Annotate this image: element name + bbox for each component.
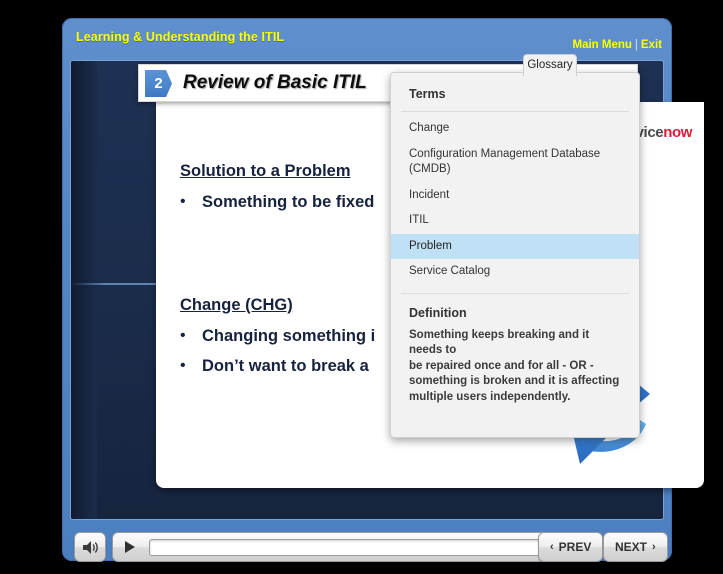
play-icon (124, 540, 136, 554)
prev-button-label: PREV (559, 540, 592, 554)
bullet-item: • Don’t want to break a (180, 357, 375, 375)
tab-glossary[interactable]: Glossary (523, 54, 577, 76)
content-block-2: Change (CHG) • Changing something i • Do… (180, 296, 375, 375)
glossary-term-change[interactable]: Change (391, 116, 639, 142)
nav-separator: | (635, 39, 638, 51)
seek-slider[interactable] (149, 539, 547, 556)
glossary-panel: Terms Change Configuration Management Da… (390, 72, 640, 438)
bullet-text: Don’t want to break a (202, 357, 369, 375)
block-heading: Change (CHG) (180, 296, 375, 315)
exit-link[interactable]: Exit (641, 39, 662, 51)
glossary-term-service-catalog[interactable]: Service Catalog (391, 259, 639, 285)
stage-left-shading (71, 61, 97, 519)
glossary-definition-text: Something keeps breaking and it needs to… (391, 328, 639, 406)
main-menu-link[interactable]: Main Menu (572, 39, 631, 51)
prev-button[interactable]: ‹ PREV (538, 532, 603, 562)
bullet-text: Changing something i (202, 327, 375, 345)
bullet-item: • Something to be fixed (180, 193, 374, 211)
course-player-frame: Learning & Understanding the ITIL Main M… (62, 18, 672, 561)
glossary-definition-title: Definition (391, 294, 639, 328)
volume-button[interactable] (74, 532, 106, 562)
logo-text-now: now (663, 124, 692, 141)
glossary-term-cmdb[interactable]: Configuration Management Database (CMDB) (391, 142, 639, 183)
bullet-item: • Changing something i (180, 327, 375, 345)
bullet-dot-icon: • (180, 357, 202, 375)
glossary-term-problem[interactable]: Problem (391, 234, 639, 260)
top-nav: Main Menu|Exit (572, 39, 662, 51)
bullet-text: Something to be fixed (202, 193, 374, 211)
chevron-right-icon: › (652, 541, 656, 553)
title-bar: Learning & Understanding the ITIL Main M… (62, 18, 672, 60)
player-root: Learning & Understanding the ITIL Main M… (0, 0, 723, 574)
course-title: Learning & Understanding the ITIL (76, 30, 284, 44)
slide-title: Review of Basic ITIL (183, 72, 367, 94)
seek-bar-container (112, 532, 582, 562)
glossary-terms-list: Change Configuration Management Database… (391, 112, 639, 285)
bullet-dot-icon: • (180, 193, 202, 211)
speaker-icon (82, 540, 99, 555)
next-button-label: NEXT (615, 540, 647, 554)
glossary-term-itil[interactable]: ITIL (391, 208, 639, 234)
next-button[interactable]: NEXT › (603, 532, 668, 562)
slide-number-badge: 2 (145, 70, 172, 97)
content-block-1: Solution to a Problem • Something to be … (180, 162, 374, 211)
chevron-left-icon: ‹ (550, 541, 554, 553)
bullet-dot-icon: • (180, 327, 202, 345)
glossary-terms-title: Terms (391, 73, 639, 111)
play-button[interactable] (115, 533, 145, 561)
glossary-term-incident[interactable]: Incident (391, 183, 639, 209)
playback-control-bar: ‹ PREV NEXT › (62, 526, 672, 570)
block-heading: Solution to a Problem (180, 162, 374, 181)
